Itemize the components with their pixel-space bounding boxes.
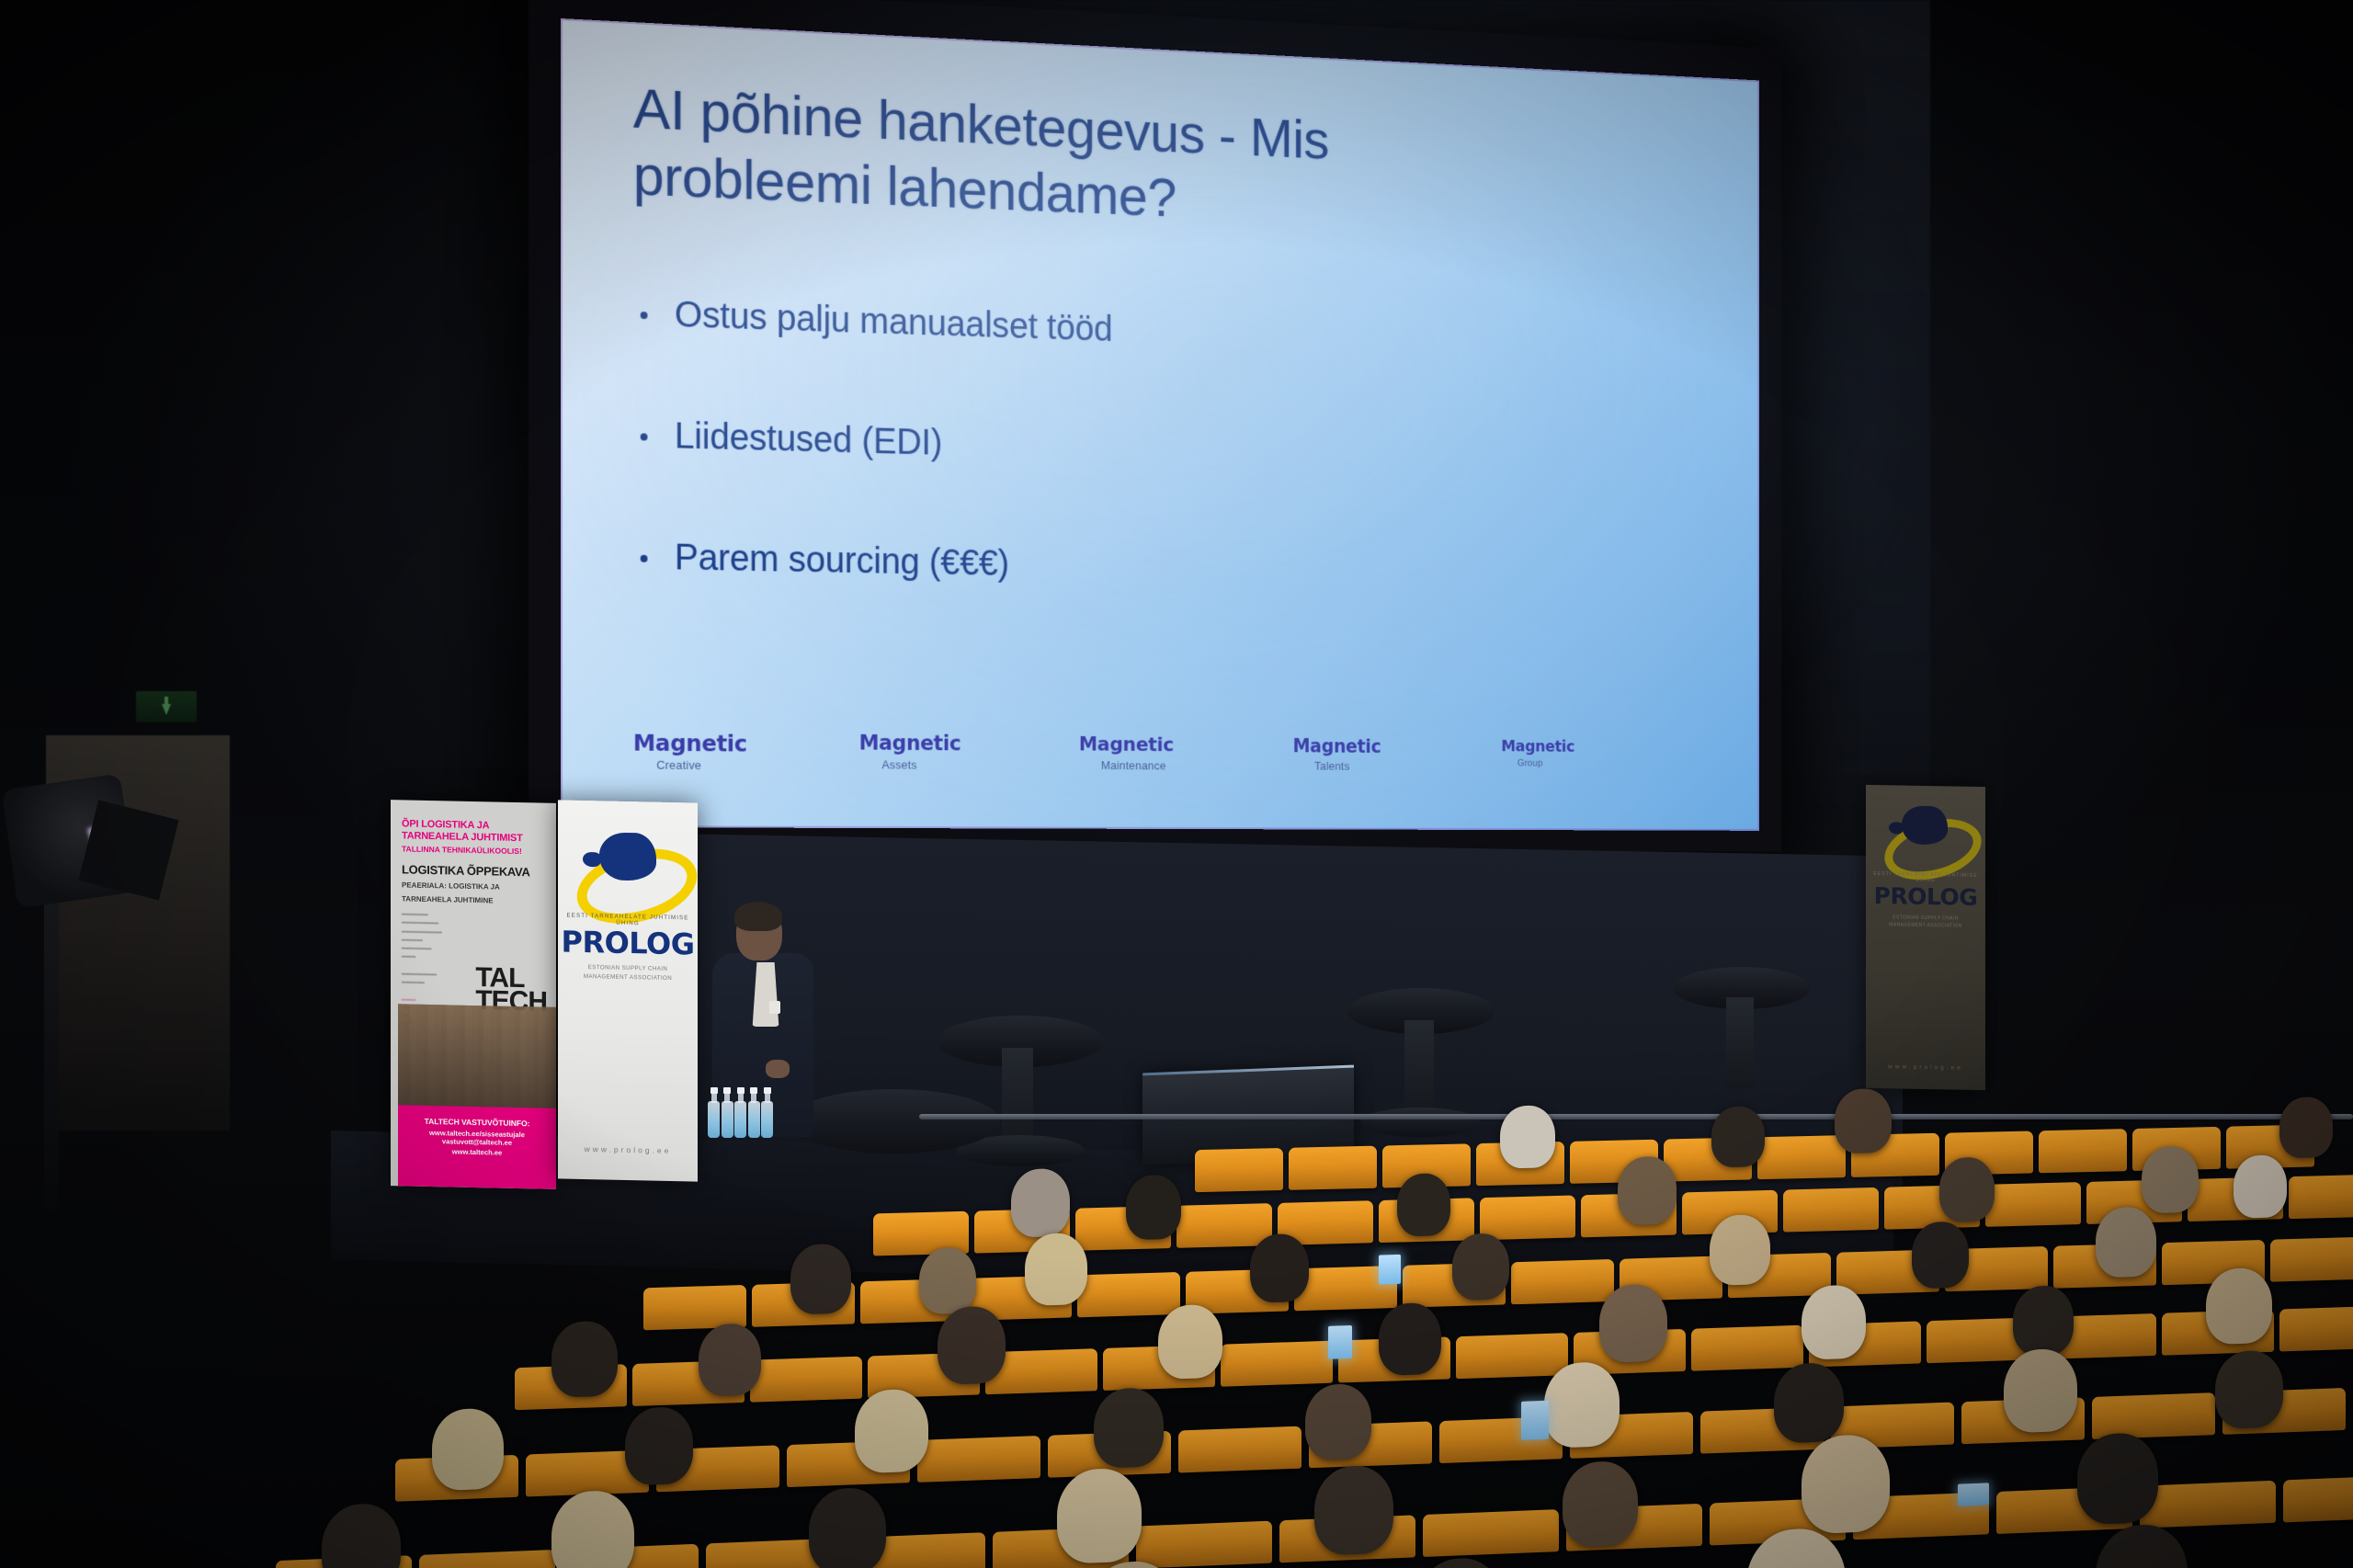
prolog-wordmark: PROLOG — [1866, 884, 1985, 909]
prolog-logo-icon — [574, 826, 682, 907]
prolog-wordmark: PROLOG — [558, 926, 698, 959]
seat — [2283, 1475, 2353, 1523]
seat — [1077, 1272, 1180, 1317]
prolog-subtitle-1: ESTONIAN SUPPLY CHAIN — [588, 964, 667, 972]
seat — [1178, 1426, 1302, 1473]
seat — [2279, 1305, 2353, 1351]
seat — [1221, 1341, 1333, 1387]
audience-head — [1710, 1214, 1770, 1286]
audience-head — [1912, 1221, 1969, 1289]
seat — [2039, 1129, 2127, 1173]
prolog-tagline: EESTI TARNEAHELATE JUHTIMISE ÜHING — [1866, 871, 1985, 884]
prolog-map-icon — [599, 832, 656, 881]
seat — [2270, 1236, 2353, 1281]
slide-bullet-item: Ostus palju manuaalset tööd — [633, 293, 1704, 369]
audience-head — [1250, 1233, 1309, 1303]
taltech-program-sub-2: TARNEAHELA JUHTIMINE — [402, 894, 545, 906]
taltech-program-title: LOGISTIKA ÕPPEKAVA — [402, 862, 545, 879]
audience-head — [551, 1490, 634, 1568]
audience-head — [1774, 1362, 1844, 1444]
slide-bullet-item: Liidestused (EDI) — [633, 415, 1704, 483]
logo-sub: Group — [1518, 759, 1704, 770]
seat — [1985, 1182, 2081, 1227]
prolog-island-icon — [583, 852, 601, 867]
seat — [1456, 1333, 1568, 1379]
audience-head — [1544, 1361, 1620, 1449]
audience-head — [2279, 1096, 2333, 1158]
magnetic-talents-logo: Magnetic Talents — [1293, 737, 1502, 773]
prolog-banner-right: EESTI TARNEAHELATE JUHTIMISE ÜHING PROLO… — [1866, 785, 1985, 1090]
audience-head — [1397, 1173, 1450, 1237]
logo-sub: Talents — [1314, 760, 1501, 773]
audience-head — [1618, 1156, 1677, 1226]
audience-head — [1711, 1106, 1765, 1167]
seat — [2289, 1174, 2353, 1219]
seat — [1195, 1148, 1283, 1192]
logo-wordmark: Magnetic — [859, 732, 961, 756]
presenter-badge — [769, 1001, 780, 1014]
audience-head — [1314, 1464, 1393, 1555]
audience-head — [1057, 1467, 1142, 1564]
logo-wordmark: Magnetic — [1079, 733, 1174, 756]
phone-screen — [1328, 1325, 1352, 1359]
audience-head — [322, 1503, 401, 1568]
audience-head — [2077, 1432, 2158, 1526]
seat — [1423, 1509, 1559, 1557]
logo-wordmark: Magnetic — [1501, 737, 1574, 756]
bullet-dot-icon — [641, 312, 648, 319]
audience-head — [938, 1305, 1006, 1384]
seat — [419, 1550, 555, 1568]
audience-head — [855, 1388, 928, 1473]
bullet-text: Parem sourcing (€€€) — [675, 538, 1009, 584]
bullet-text: Ostus palju manuaalset tööd — [675, 295, 1113, 349]
audience-head — [432, 1407, 504, 1491]
seat — [917, 1436, 1040, 1483]
taltech-program-sub-1: PEAERIALA: LOGISTIKA JA — [402, 881, 545, 892]
taltech-headline-2: TARNEAHELA JUHTIMIST — [402, 830, 545, 845]
seat — [750, 1357, 862, 1403]
prolog-map-icon — [1902, 806, 1948, 846]
audience-head — [1126, 1175, 1181, 1241]
tablet-screen — [1521, 1401, 1549, 1440]
audience-head — [2004, 1348, 2077, 1434]
seat — [1757, 1135, 1846, 1179]
audience-head — [1025, 1233, 1087, 1306]
seat — [1783, 1187, 1879, 1233]
prolog-subtitle: ESTONIAN SUPPLY CHAIN MANAGEMENT ASSOCIA… — [558, 962, 698, 983]
logo-sub: Assets — [881, 759, 1078, 772]
seat — [1176, 1203, 1272, 1248]
audience-head — [1305, 1383, 1371, 1461]
logo-sub: Creative — [656, 759, 858, 772]
audience-head — [2234, 1154, 2287, 1219]
logo-sub: Maintenance — [1101, 759, 1293, 772]
audience-head — [699, 1323, 761, 1396]
projected-slide: AI põhine hanketegevus - Mis probleemi l… — [561, 18, 1759, 831]
slide-title: AI põhine hanketegevus - Mis probleemi l… — [633, 75, 1537, 245]
audience-head — [1500, 1105, 1555, 1168]
magnetic-assets-logo: Magnetic Assets — [859, 733, 1079, 772]
audience-head — [2096, 1206, 2156, 1278]
audience-head — [1802, 1284, 1866, 1359]
audience-head — [2013, 1285, 2074, 1357]
seat — [1289, 1146, 1377, 1190]
audience-head — [790, 1244, 851, 1315]
audience-head — [1011, 1168, 1070, 1238]
audience-head — [1939, 1157, 1995, 1223]
audience-head — [1563, 1460, 1638, 1548]
audience-head — [1452, 1233, 1509, 1301]
prolog-subtitle-2: MANAGEMENT ASSOCIATION — [1889, 922, 1961, 928]
seat — [1136, 1521, 1272, 1568]
bullet-dot-icon — [641, 555, 648, 562]
audience-head — [2206, 1267, 2272, 1345]
audience-head — [2142, 1146, 2199, 1214]
prolog-logo-icon — [1881, 801, 1970, 866]
audience-head — [1094, 1387, 1164, 1469]
bullet-dot-icon — [641, 434, 648, 441]
bullet-text: Liidestused (EDI) — [675, 416, 942, 463]
presenter-hair — [734, 902, 782, 931]
prolog-subtitle: ESTONIAN SUPPLY CHAIN MANAGEMENT ASSOCIA… — [1866, 914, 1985, 930]
magnetic-group-logo: Magnetic Group — [1501, 739, 1704, 770]
audience-head — [551, 1320, 618, 1397]
photo-canvas: AI põhine hanketegevus - Mis probleemi l… — [0, 0, 2353, 1568]
prolog-subtitle-1: ESTONIAN SUPPLY CHAIN — [1893, 915, 1958, 921]
audience-seating — [0, 1057, 2353, 1568]
seat — [1691, 1325, 1803, 1371]
audience-head — [1379, 1302, 1441, 1376]
logo-wordmark: Magnetic — [633, 730, 747, 757]
audience-head — [809, 1487, 886, 1568]
exit-arrow-icon — [162, 697, 171, 715]
taltech-headline-3: TALLINNA TEHNIKAÜLIKOOLIS! — [402, 844, 545, 856]
audience-head — [1599, 1284, 1667, 1363]
audience-head — [919, 1247, 976, 1315]
magnetic-maintenance-logo: Magnetic Maintenance — [1079, 735, 1293, 772]
balcony-rail — [919, 1114, 2353, 1119]
phone-screen — [1379, 1255, 1401, 1285]
seat — [2140, 1481, 2276, 1528]
prolog-subtitle-2: MANAGEMENT ASSOCIATION — [584, 973, 672, 982]
phone-screen — [1958, 1483, 1989, 1506]
seat — [2092, 1392, 2215, 1439]
audience-head — [2215, 1349, 2283, 1429]
audience-head — [1835, 1088, 1892, 1153]
audience-head — [1158, 1304, 1222, 1380]
audience-head — [625, 1406, 693, 1486]
slide-bullet-list: Ostus palju manuaalset tööd Liidestused … — [633, 293, 1704, 597]
seat — [1480, 1195, 1575, 1240]
slide-bullet-item: Parem sourcing (€€€) — [633, 537, 1704, 597]
seat — [1511, 1259, 1614, 1304]
magnetic-creative-logo: Magnetic Creative — [633, 732, 859, 772]
logo-wordmark: Magnetic — [1293, 735, 1381, 757]
taltech-body-text: ▪▪▪▪▪▪▪▪▪▪▪▪▪▪▪▪▪▪▪▪▪▪▪▪▪▪▪▪▪▪▪▪▪▪▪▪▪▪▪▪… — [402, 911, 545, 964]
exit-sign — [136, 691, 197, 722]
audience-head — [1802, 1434, 1890, 1535]
